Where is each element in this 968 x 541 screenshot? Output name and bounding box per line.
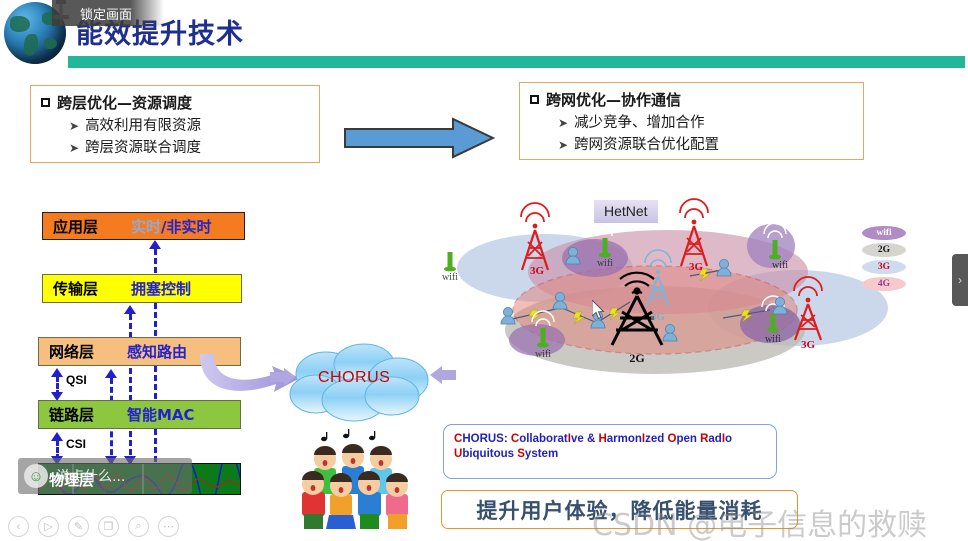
box-bullet: ➤高效利用有限资源	[69, 114, 311, 135]
square-bullet-icon	[41, 98, 50, 107]
children-choir-illustration	[296, 428, 422, 532]
stack-arrow-head-up	[124, 305, 136, 314]
legend-item-wifi: wifi	[862, 226, 906, 240]
side-panel-toggle[interactable]: ›	[952, 254, 968, 306]
stack-layer-name: 传输层	[53, 278, 131, 299]
mouse-cursor-icon	[592, 300, 606, 320]
legend-item-2g: 2G	[862, 243, 906, 257]
svg-text:wifi: wifi	[597, 258, 613, 269]
csi-arrow-head-up	[51, 432, 63, 441]
stack-arrow-head-up	[149, 240, 161, 249]
smiley-icon[interactable]: ☺	[24, 464, 48, 488]
square-bullet-icon	[530, 95, 539, 104]
legend-item-3g: 3G	[862, 260, 906, 274]
stack-layer-name: 网络层	[49, 341, 127, 362]
legend-item-4g: 4G	[862, 277, 906, 291]
qsi-arrow-head-up	[51, 368, 63, 377]
network-legend: wifi 2G 3G 4G	[862, 226, 908, 294]
csi-label: CSI	[66, 437, 86, 451]
svg-text:3G: 3G	[689, 261, 704, 273]
stack-layer-name: 应用层	[53, 216, 131, 237]
box-bullet: ➤减少竞争、增加合作	[558, 111, 855, 132]
hetnet-label: HetNet	[594, 200, 658, 223]
lock-screen-label: 锁定画面	[80, 4, 132, 23]
hetnet-diagram: 2G 3G 3G 3G	[440, 190, 900, 390]
stack-layer-link: 链路层 智能MAC	[38, 400, 241, 429]
bottom-toolbar: ‹ ▷ ✎ ❐ ⌕ ⋯	[8, 516, 179, 537]
slide-canvas: 能效提升技术 锁定画面 跨层优化—资源调度 ➤高效利用有限资源 ➤跨层资源联合调…	[0, 0, 968, 541]
stack-layer-application: 应用层 实时/非实时	[42, 212, 245, 240]
edit-button[interactable]: ✎	[68, 516, 89, 537]
svg-text:wifi: wifi	[442, 272, 458, 283]
stack-layer-transport: 传输层 拥塞控制	[42, 274, 242, 303]
chorus-definition-box: CHORUS: CollaboratIve & HarmonIzed Open …	[443, 424, 777, 479]
svg-text:wifi: wifi	[535, 349, 551, 360]
play-button[interactable]: ▷	[38, 516, 59, 537]
svg-text:3G: 3G	[801, 339, 816, 351]
svg-text:3G: 3G	[530, 265, 545, 277]
stack-layer-function: 感知路由	[127, 341, 187, 362]
box-bullet: ➤跨层资源联合调度	[69, 136, 311, 157]
stack-layer-function: 拥塞控制	[131, 278, 191, 299]
search-button[interactable]: ⌕	[128, 516, 149, 537]
copy-button[interactable]: ❐	[98, 516, 119, 537]
box-heading: 跨网优化—协作通信	[530, 89, 855, 110]
stack-layer-name: 链路层	[49, 404, 127, 425]
chevron-bullet-icon: ➤	[558, 138, 568, 152]
cloud-inflow-arrow-left	[270, 368, 296, 390]
stack-layer-name: 物理层	[49, 469, 127, 490]
svg-text:wifi: wifi	[772, 260, 788, 271]
more-button[interactable]: ⋯	[158, 516, 179, 537]
cloud-label: CHORUS	[318, 369, 390, 387]
chevron-bullet-icon: ➤	[69, 141, 79, 155]
stack-arrow-head-up	[105, 369, 117, 378]
cross-network-optimization-box: 跨网优化—协作通信 ➤减少竞争、增加合作 ➤跨网资源联合优化配置	[519, 82, 864, 160]
flow-arrow-icon	[343, 117, 495, 161]
lock-screen-tooltip[interactable]: 锁定画面	[52, 0, 164, 26]
qsi-label: QSI	[66, 373, 87, 387]
bottom-banner: 提升用户体验，降低能量消耗	[441, 490, 798, 529]
box-heading: 跨层优化—资源调度	[41, 92, 311, 113]
svg-text:2G: 2G	[629, 351, 644, 365]
box-bullet: ➤跨网资源联合优化配置	[558, 133, 855, 154]
stack-layer-function: 智能MAC	[127, 404, 195, 425]
cross-layer-optimization-box: 跨层优化—资源调度 ➤高效利用有限资源 ➤跨层资源联合调度	[30, 85, 320, 163]
svg-text:4G: 4G	[651, 311, 666, 323]
back-button[interactable]: ‹	[8, 516, 29, 537]
bottom-banner-text: 提升用户体验，降低能量消耗	[477, 495, 763, 525]
chorus-definition-text: CHORUS: CollaboratIve & HarmonIzed Open …	[454, 432, 766, 462]
stack-layer-function: 实时/非实时	[131, 216, 212, 237]
chevron-bullet-icon: ➤	[69, 119, 79, 133]
svg-text:wifi: wifi	[765, 334, 781, 345]
chevron-bullet-icon: ➤	[558, 116, 568, 130]
title-underline-bar	[68, 56, 965, 68]
